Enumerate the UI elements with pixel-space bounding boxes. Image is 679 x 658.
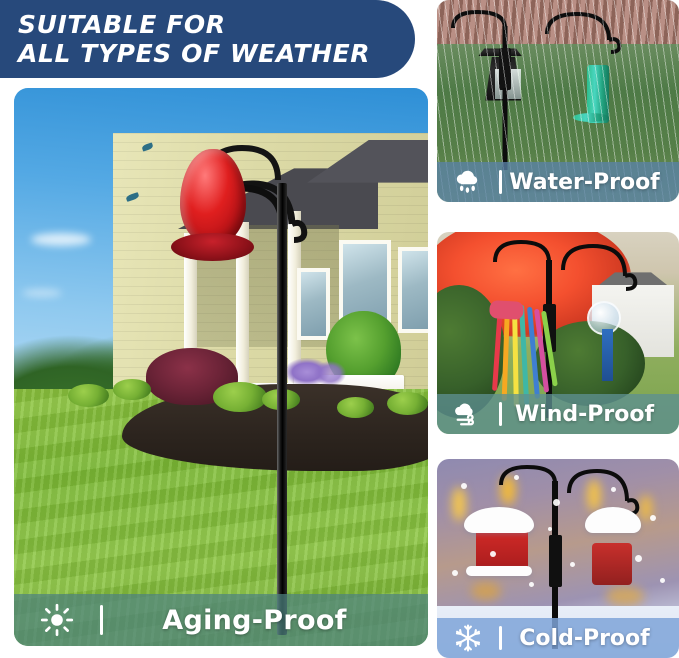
sun-icon-wrap <box>14 603 100 637</box>
water-proof-label-bar: Water-Proof <box>437 162 679 202</box>
cloud-wisp <box>22 289 62 297</box>
wind-proof-label-bar: Wind-Proof <box>437 394 679 434</box>
shrub <box>113 379 150 400</box>
window <box>398 247 428 333</box>
birdhouse-snow-base <box>466 566 532 576</box>
snowflake <box>452 570 458 576</box>
bokeh-light <box>500 475 516 505</box>
aging-proof-label: Aging-Proof <box>103 605 428 636</box>
shrub <box>337 397 374 418</box>
cold-proof-label-bar: Cold-Proof <box>437 618 679 658</box>
snowflake <box>650 515 656 521</box>
aging-proof-label-bar: Aging-Proof <box>14 594 428 646</box>
snowflake <box>553 499 560 506</box>
hummingbird-feeder-base <box>171 233 254 261</box>
window <box>297 268 329 339</box>
rain-cloud-icon-wrap <box>437 168 499 196</box>
panel-wind-proof: Wind-Proof <box>437 232 679 434</box>
panel-cold-proof: Cold-Proof <box>437 459 679 658</box>
red-lantern <box>592 543 632 585</box>
snowflake-icon <box>453 623 483 653</box>
bokeh-light <box>587 479 601 511</box>
hummingbird-feeder-glass <box>180 149 246 244</box>
sun-icon <box>40 603 74 637</box>
red-birdhouse <box>476 531 528 571</box>
cloud-wisp <box>31 233 91 246</box>
water-proof-label: Water-Proof <box>502 170 679 195</box>
wind-cloud-icon <box>452 401 484 427</box>
banner-line-2: ALL TYPES OF WEATHER <box>18 39 370 68</box>
wind-chime <box>602 329 613 381</box>
wind-proof-label: Wind-Proof <box>502 402 679 427</box>
snowflake-icon-wrap <box>437 623 499 653</box>
rain-cloud-icon <box>453 168 483 196</box>
windsock-head <box>489 300 524 320</box>
header-banner: SUITABLE FOR ALL TYPES OF WEATHER <box>0 0 415 78</box>
snowflake <box>548 527 552 531</box>
bokeh-light <box>452 487 466 521</box>
banner-line-1: SUITABLE FOR <box>18 10 226 39</box>
snowflake <box>635 555 642 562</box>
infographic-page: SUITABLE FOR ALL TYPES OF WEATHER <box>0 0 679 658</box>
pole <box>277 183 287 635</box>
panel-water-proof: Water-Proof <box>437 0 679 202</box>
cold-proof-label: Cold-Proof <box>502 626 679 651</box>
wind-cloud-icon-wrap <box>437 401 499 427</box>
banner-heading: SUITABLE FOR ALL TYPES OF WEATHER <box>0 10 370 68</box>
shrub <box>213 382 267 413</box>
purple-flowers <box>314 361 346 386</box>
main-feature-image: Aging-Proof <box>14 88 428 646</box>
snowflake <box>490 551 496 557</box>
shrub <box>387 392 428 415</box>
